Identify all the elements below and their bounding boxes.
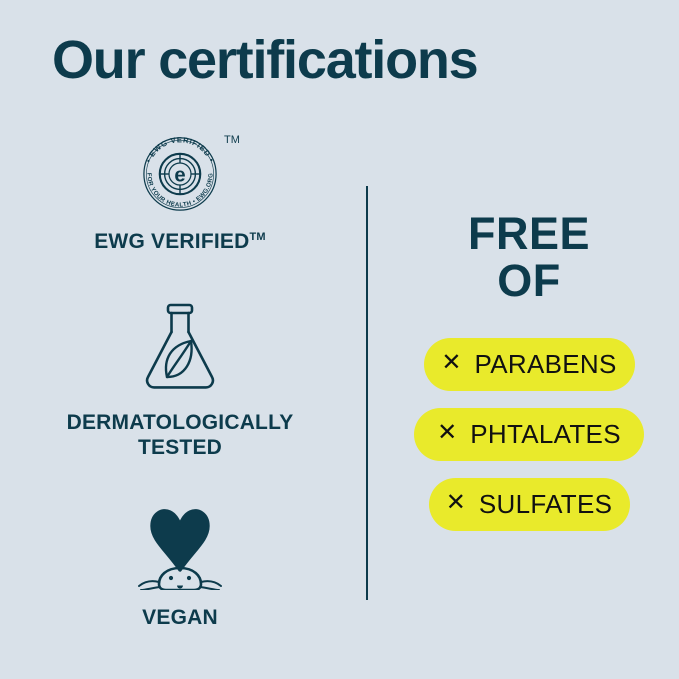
certifications-infographic: Our certifications • EWG VERIFIED • (0, 0, 679, 679)
ewg-badge-wrap: • EWG VERIFIED • FOR YOUR HEALTH • EWG.O… (0, 130, 360, 218)
flask-leaf-icon (137, 301, 223, 393)
certification-label-dermatologically-tested: DERMATOLOGICALLY TESTED (0, 411, 360, 461)
free-of-pill-label: SULFATES (479, 489, 612, 520)
free-of-pill-sulfates: ✕ SULFATES (429, 478, 630, 531)
free-of-pill-parabens: ✕ PARABENS (424, 338, 635, 391)
x-icon: ✕ (446, 491, 466, 515)
flask-icon-wrap (0, 301, 360, 393)
free-of-heading-line2: OF (395, 257, 663, 304)
bunny-heart-ears-icon (126, 494, 234, 590)
bunny-icon-wrap (0, 494, 360, 590)
page-title: Our certifications (52, 33, 478, 87)
free-of-pill-label: PARABENS (475, 349, 617, 380)
certification-label-ewg-tm: TM (249, 231, 265, 243)
certification-label-derm-line1: DERMATOLOGICALLY (0, 411, 360, 436)
free-of-pill-list: ✕ PARABENS ✕ PHTALATES ✕ SULFATES (395, 338, 663, 548)
certifications-column: • EWG VERIFIED • FOR YOUR HEALTH • EWG.O… (0, 130, 360, 631)
free-of-pill-label: PHTALATES (470, 419, 621, 450)
trademark-icon: TM (224, 132, 246, 148)
certification-label-ewg: EWG VERIFIEDTM (0, 230, 360, 255)
certification-dermatologically-tested: DERMATOLOGICALLY TESTED (0, 301, 360, 461)
x-icon: ✕ (437, 421, 457, 445)
free-of-pill-phtalates: ✕ PHTALATES (414, 408, 644, 461)
free-of-column: FREE OF ✕ PARABENS ✕ PHTALATES ✕ SULFATE… (395, 210, 663, 548)
svg-text:TM: TM (224, 134, 240, 146)
certification-label-derm-line2: TESTED (0, 436, 360, 461)
certification-vegan: VEGAN (0, 494, 360, 631)
certification-label-vegan: VEGAN (0, 606, 360, 631)
svg-text:e: e (174, 164, 185, 186)
x-icon: ✕ (441, 351, 461, 375)
free-of-heading-line1: FREE (395, 210, 663, 257)
certification-ewg-verified: • EWG VERIFIED • FOR YOUR HEALTH • EWG.O… (0, 130, 360, 255)
column-divider (366, 186, 368, 600)
free-of-heading: FREE OF (395, 210, 663, 305)
certification-label-ewg-text: EWG VERIFIED (94, 230, 249, 253)
ewg-verified-badge-icon: • EWG VERIFIED • FOR YOUR HEALTH • EWG.O… (136, 130, 224, 218)
